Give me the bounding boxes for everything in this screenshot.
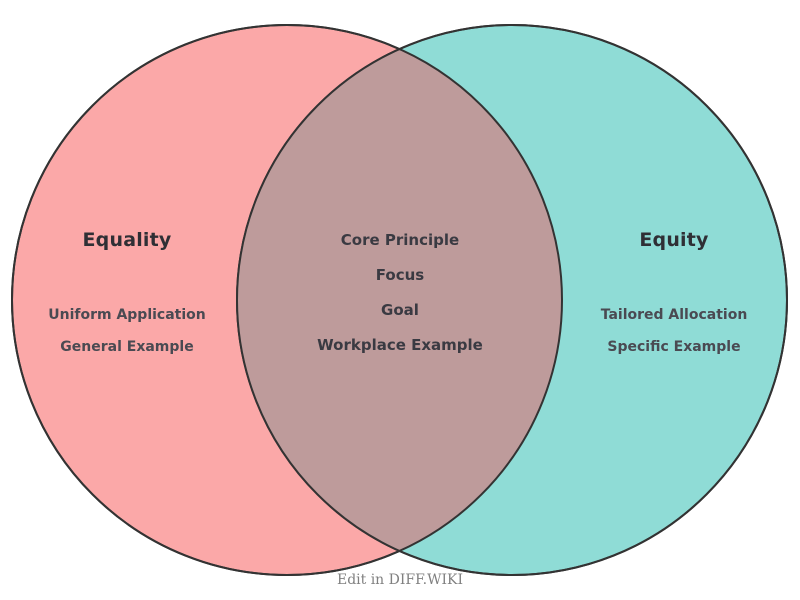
venn-set-left-items: Uniform Application General Example: [7, 308, 247, 354]
venn-set-left-item: General Example: [7, 340, 247, 354]
venn-intersection-item: Focus: [280, 268, 520, 283]
venn-intersection-item: Core Principle: [280, 233, 520, 248]
venn-set-left-item: Uniform Application: [7, 308, 247, 322]
venn-set-left-title: Equality: [7, 231, 247, 250]
venn-set-right-item: Tailored Allocation: [554, 308, 794, 322]
venn-diagram-canvas: Equality Uniform Application General Exa…: [0, 0, 800, 600]
venn-set-right-item: Specific Example: [554, 340, 794, 354]
venn-intersection-item: Goal: [280, 303, 520, 318]
venn-labels-layer: Equality Uniform Application General Exa…: [0, 0, 800, 600]
venn-set-right-items: Tailored Allocation Specific Example: [554, 308, 794, 354]
venn-intersection-items[interactable]: Core Principle Focus Goal Workplace Exam…: [280, 233, 520, 353]
edit-in-diffwiki-link[interactable]: Edit in DIFF.WIKI: [0, 572, 800, 588]
venn-set-right-title: Equity: [554, 231, 794, 250]
venn-intersection-item: Workplace Example: [280, 338, 520, 353]
venn-set-right[interactable]: Equity Tailored Allocation Specific Exam…: [554, 231, 794, 354]
venn-set-left[interactable]: Equality Uniform Application General Exa…: [7, 231, 247, 354]
